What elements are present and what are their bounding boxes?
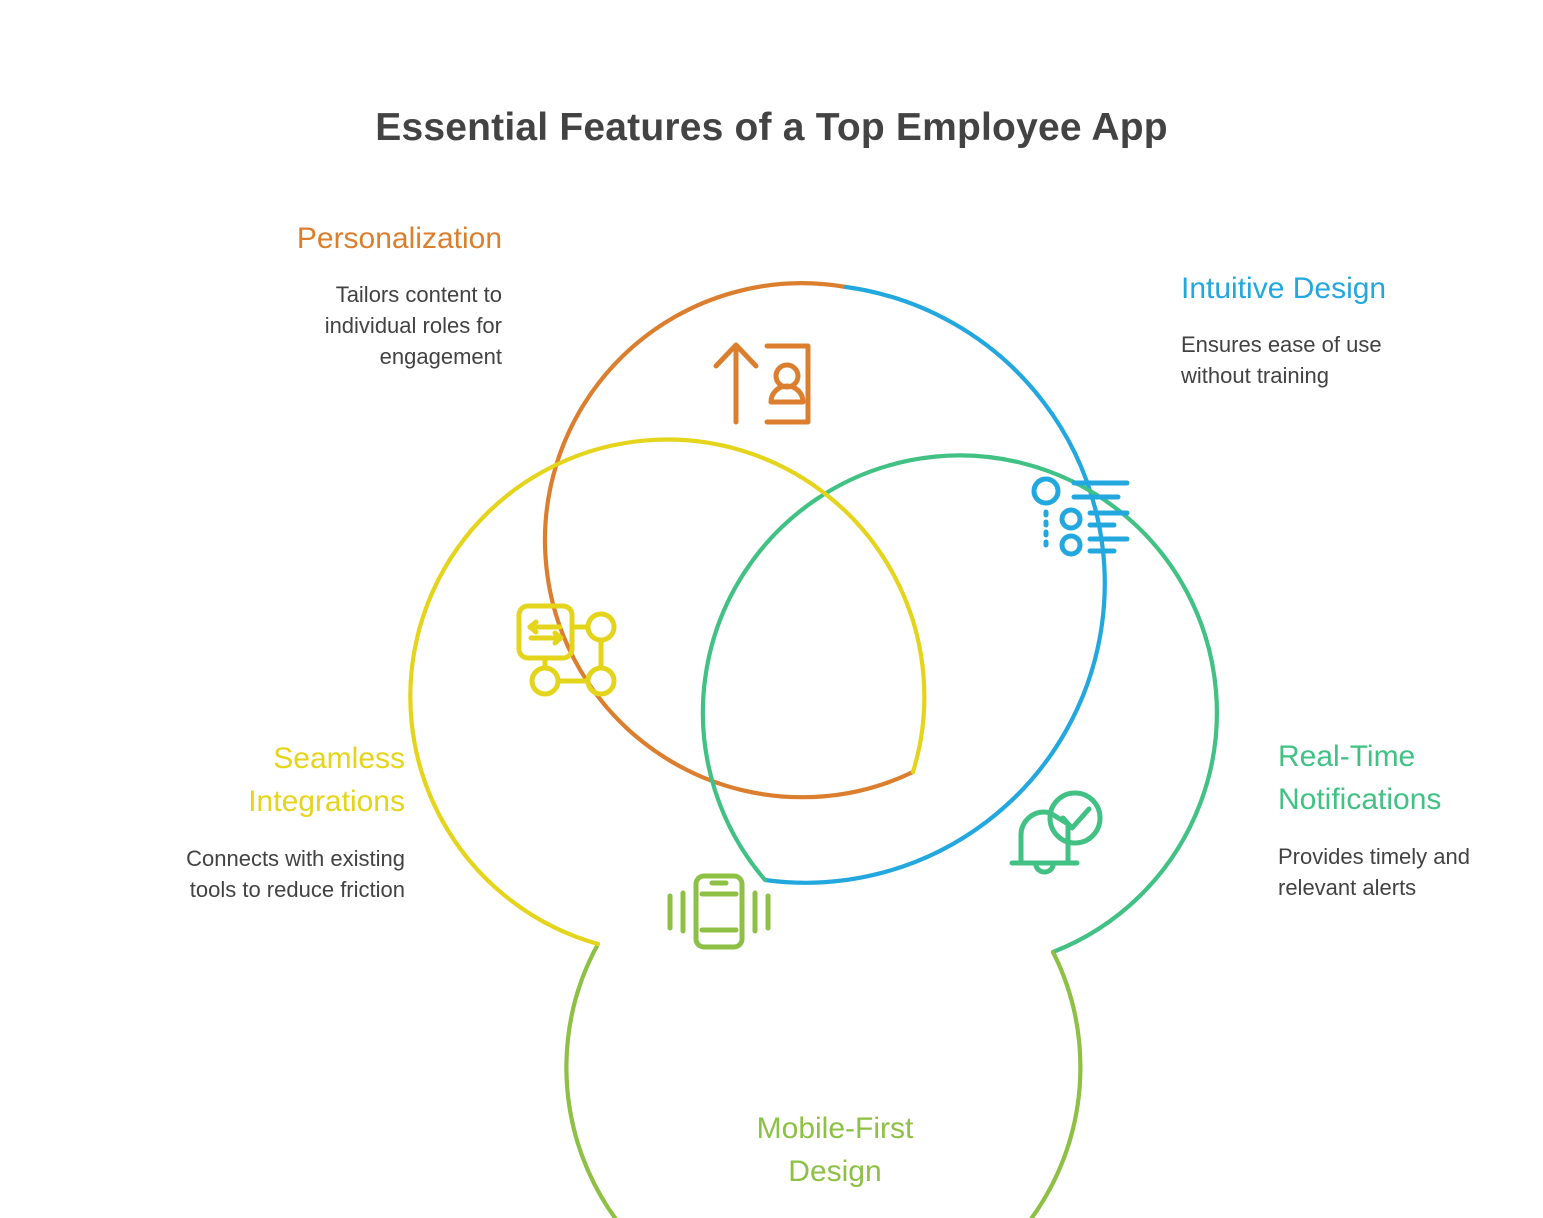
feature-title-seamless-integrations: Seamless Integrations xyxy=(60,738,405,823)
pinwheel-diagram xyxy=(0,0,1543,1218)
arc-real-time-notifications[interactable] xyxy=(703,455,1217,952)
arc-personalization[interactable] xyxy=(545,283,913,797)
data-exchange-nodes-icon xyxy=(519,606,614,694)
bell-check-icon xyxy=(1012,793,1100,872)
arc-intuitive-design[interactable] xyxy=(765,287,1105,883)
infographic-canvas: Essential Features of a Top Employee App xyxy=(0,0,1543,1218)
feature-description-seamless-integrations: Connects with existing tools to reduce f… xyxy=(60,843,405,905)
arc-seamless-integrations[interactable] xyxy=(410,440,924,944)
feature-label-personalization[interactable]: Personalization Tailors content to indiv… xyxy=(140,218,502,372)
feature-description-personalization: Tailors content to individual roles for … xyxy=(140,279,502,373)
feature-title-intuitive-design: Intuitive Design xyxy=(1181,268,1541,311)
page-title: Essential Features of a Top Employee App xyxy=(0,104,1543,153)
person-upgrade-icon xyxy=(716,345,808,422)
feature-label-real-time-notifications[interactable]: Real-Time Notifications Provides timely … xyxy=(1278,736,1543,904)
feature-description-intuitive-design: Ensures ease of use without training xyxy=(1181,329,1541,391)
feature-label-seamless-integrations[interactable]: Seamless Integrations Connects with exis… xyxy=(60,738,405,906)
phone-vibrate-icon xyxy=(670,876,768,947)
feature-title-real-time-notifications: Real-Time Notifications xyxy=(1278,736,1543,821)
feature-description-real-time-notifications: Provides timely and relevant alerts xyxy=(1278,841,1543,903)
feature-title-personalization: Personalization xyxy=(140,218,502,261)
feature-title-mobile-first-design: Mobile-First Design xyxy=(615,1108,1055,1193)
bullet-list-outline-icon xyxy=(1034,479,1127,554)
feature-label-mobile-first-design[interactable]: Mobile-First Design xyxy=(615,1108,1055,1193)
feature-label-intuitive-design[interactable]: Intuitive Design Ensures ease of use wit… xyxy=(1181,268,1541,391)
